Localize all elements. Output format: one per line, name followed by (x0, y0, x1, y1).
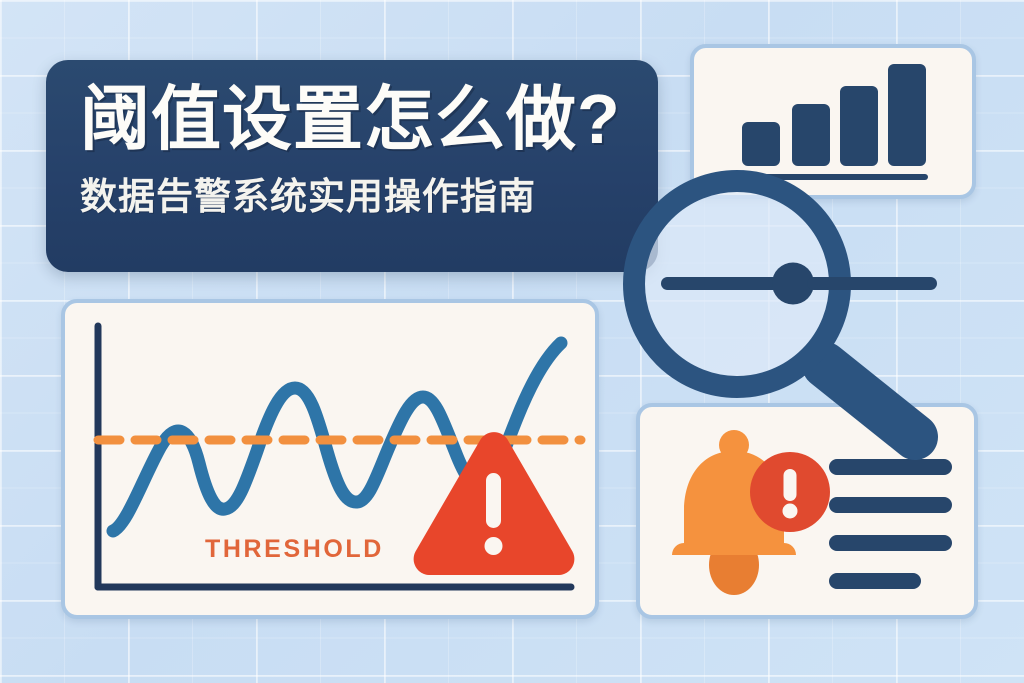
magnifier-icon (607, 165, 947, 455)
exclamation-badge-icon (750, 452, 830, 532)
list-item (829, 573, 921, 589)
bar-1 (742, 122, 780, 166)
list-item (829, 497, 952, 513)
threshold-label: THRESHOLD (205, 535, 384, 564)
line-chart (65, 303, 595, 615)
page-title: 阈值设置怎么做? (80, 82, 624, 156)
list-item (829, 535, 952, 551)
title-card: 阈值设置怎么做? 数据告警系统实用操作指南 (46, 60, 658, 272)
line-chart-card: THRESHOLD (61, 299, 599, 619)
bar-2 (792, 104, 830, 166)
list-item (829, 459, 952, 475)
bar-3 (840, 86, 878, 166)
alert-triangle-icon (414, 432, 575, 575)
magnifier-handle (825, 365, 915, 437)
page-subtitle: 数据告警系统实用操作指南 (80, 166, 624, 220)
bar-4 (888, 64, 926, 166)
